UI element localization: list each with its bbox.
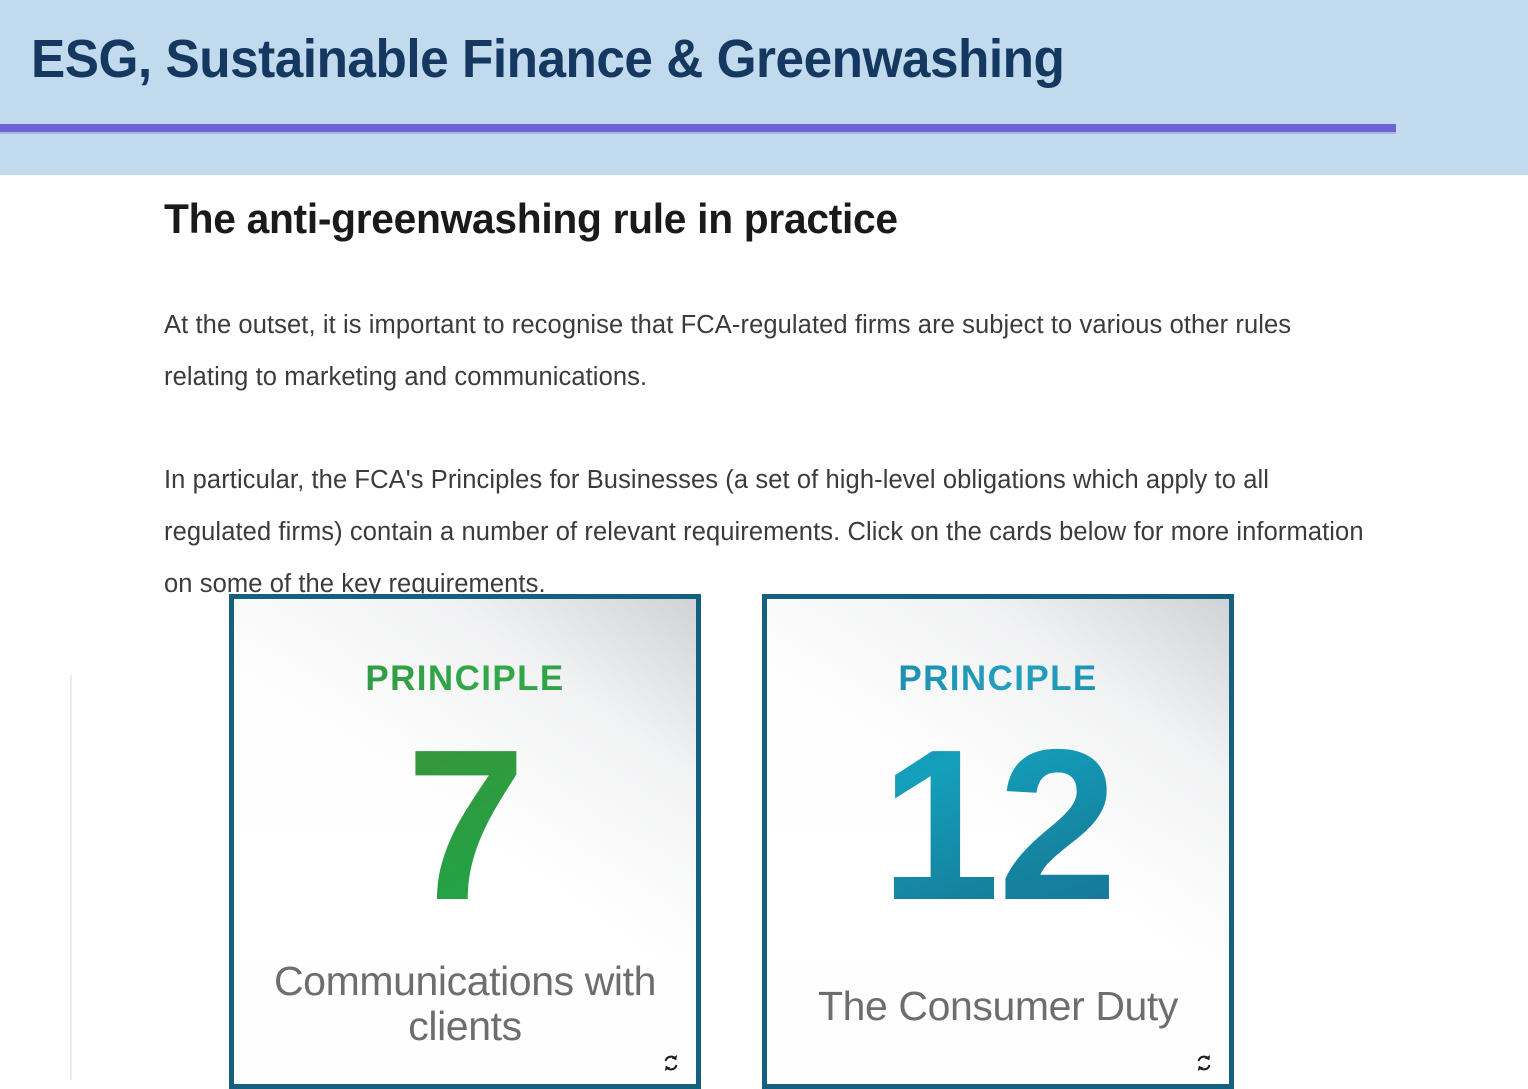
header-divider-rule <box>0 124 1396 132</box>
principle-card-7[interactable]: PRINCIPLE 7 Communications with clients <box>229 594 701 1089</box>
principle-number: 7 <box>234 717 696 932</box>
principle-label: PRINCIPLE <box>234 659 696 699</box>
refresh-flip-icon[interactable] <box>658 1050 684 1076</box>
principle-caption: Communications with clients <box>250 959 680 1048</box>
page-title: ESG, Sustainable Finance & Greenwashing <box>31 30 1064 88</box>
principle-card-7-inner: PRINCIPLE 7 Communications with clients <box>234 599 696 1084</box>
header-divider-rule-shadow <box>0 132 1396 134</box>
principle-label: PRINCIPLE <box>767 659 1229 699</box>
principle-card-12-inner: PRINCIPLE 12 The Consumer Duty <box>767 599 1229 1084</box>
principle-cards-row: PRINCIPLE 7 Communications with clients … <box>0 175 1528 1080</box>
principle-number: 12 <box>767 717 1229 932</box>
principle-card-12[interactable]: PRINCIPLE 12 The Consumer Duty <box>762 594 1234 1089</box>
refresh-flip-icon[interactable] <box>1191 1050 1217 1076</box>
main-content: The anti-greenwashing rule in practice A… <box>0 175 1528 1080</box>
slide-header-band: ESG, Sustainable Finance & Greenwashing <box>0 0 1528 175</box>
principle-caption: The Consumer Duty <box>783 984 1213 1028</box>
